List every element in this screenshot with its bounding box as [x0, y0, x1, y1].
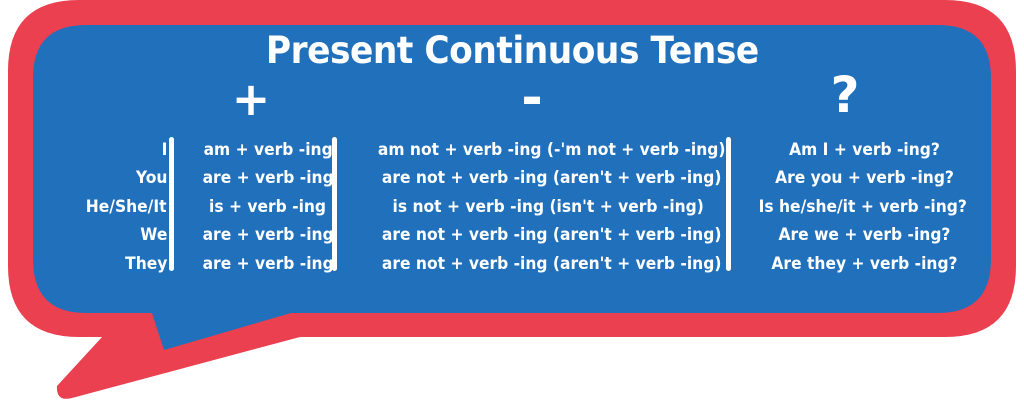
negative-symbol: - — [492, 72, 572, 124]
infographic-card: Present Continuous Tense + - ? I am + ve… — [0, 0, 1024, 404]
table-row: You are + verb -ing are not + verb -ing … — [56, 164, 972, 192]
page-title: Present Continuous Tense — [36, 32, 988, 69]
affirmative-cell: is + verb -ing — [193, 199, 341, 216]
pronoun-cell: He/She/It — [63, 199, 167, 216]
question-cell: Are we + verb -ing? — [763, 227, 965, 244]
pronoun-cell: You — [63, 170, 168, 187]
affirmative-cell: are + verb -ing — [194, 170, 343, 187]
table-row: We are + verb -ing are not + verb -ing (… — [56, 221, 972, 249]
pronoun-cell: We — [63, 227, 168, 244]
question-cell: Are they + verb -ing? — [763, 256, 965, 273]
negative-cell: is not + verb -ing (isn't + verb -ing) — [375, 199, 721, 216]
question-cell: Are you + verb -ing? — [763, 170, 965, 187]
tense-table: I am + verb -ing am not + verb -ing (-'m… — [56, 136, 972, 278]
affirmative-cell: am + verb -ing — [194, 142, 343, 159]
pronoun-cell: They — [63, 256, 168, 273]
negative-cell: are not + verb -ing (aren't + verb -ing) — [377, 256, 726, 273]
question-symbol: ? — [805, 70, 885, 120]
table-row: I am + verb -ing am not + verb -ing (-'m… — [56, 136, 972, 164]
affirmative-cell: are + verb -ing — [194, 256, 343, 273]
negative-cell: am not + verb -ing (-'m not + verb -ing) — [377, 142, 726, 159]
table-row: They are + verb -ing are not + verb -ing… — [56, 250, 972, 278]
pronoun-cell: I — [63, 142, 168, 159]
table-row: He/She/It is + verb -ing is not + verb -… — [56, 193, 972, 221]
question-cell: Is he/she/it + verb -ing? — [759, 199, 966, 216]
question-cell: Am I + verb -ing? — [763, 142, 965, 159]
negative-cell: are not + verb -ing (aren't + verb -ing) — [377, 227, 726, 244]
affirmative-symbol: + — [211, 76, 291, 122]
negative-cell: are not + verb -ing (aren't + verb -ing) — [377, 170, 726, 187]
affirmative-cell: are + verb -ing — [194, 227, 343, 244]
